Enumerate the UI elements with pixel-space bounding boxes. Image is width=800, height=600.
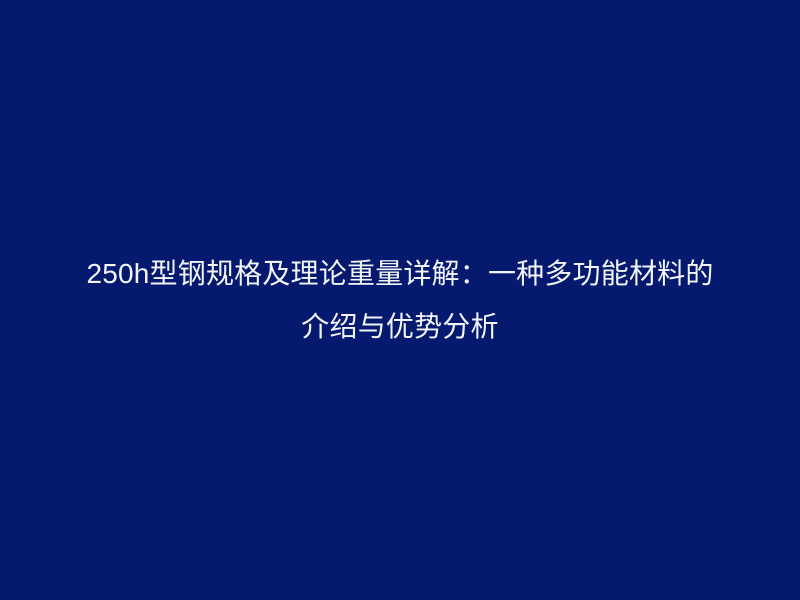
title-slide: 250h型钢规格及理论重量详解：一种多功能材料的 介绍与优势分析 [0,0,800,600]
title-block: 250h型钢规格及理论重量详解：一种多功能材料的 介绍与优势分析 [44,247,756,353]
page-title: 250h型钢规格及理论重量详解：一种多功能材料的 介绍与优势分析 [44,247,756,353]
